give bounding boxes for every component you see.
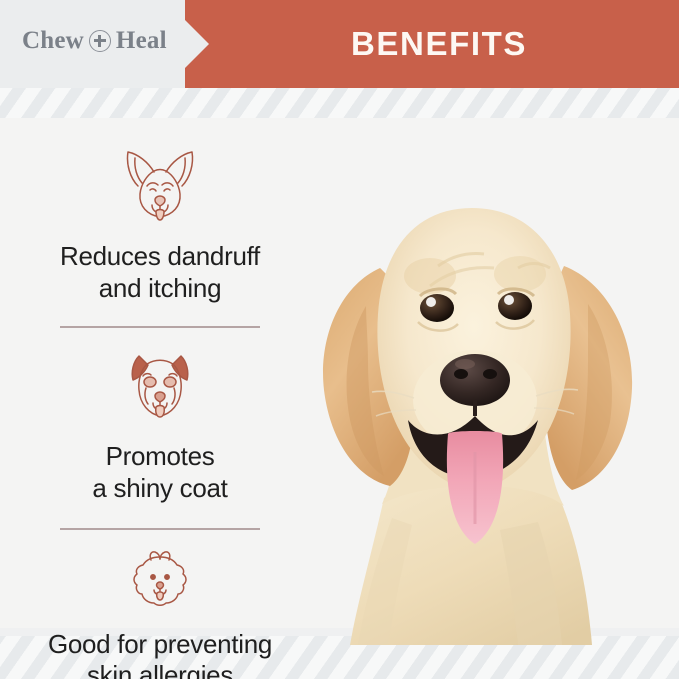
circled-plus-icon [89, 30, 111, 52]
logo-word-heal: Heal [116, 28, 167, 53]
logo-word-chew: Chew [22, 28, 84, 53]
puppy-photo [262, 100, 679, 645]
benefit-text-3: Good for preventing skin allergies [0, 629, 320, 679]
benefits-list: Reduces dandruff and itching [0, 128, 320, 679]
benefit-text-2: Promotes a shiny coat [0, 441, 320, 504]
banner-title: BENEFITS [185, 0, 679, 88]
benefit-text-1: Reduces dandruff and itching [0, 241, 320, 304]
benefits-banner: BENEFITS [185, 0, 679, 88]
brand-logo[interactable]: Chew Heal [22, 28, 167, 53]
corgi-dog-face-icon [0, 144, 320, 227]
benefit-item-3: Good for preventing skin allergies [0, 548, 320, 679]
pomeranian-dog-face-icon [0, 548, 320, 615]
benefit-item-2: Promotes a shiny coat [0, 346, 320, 530]
benefits-infographic: Chew Heal BENEFITS [0, 0, 679, 679]
benefit-divider-2 [60, 528, 260, 529]
benefit-item-1: Reduces dandruff and itching [0, 144, 320, 328]
terrier-dog-face-icon [0, 346, 320, 425]
benefit-divider-1 [60, 326, 260, 327]
